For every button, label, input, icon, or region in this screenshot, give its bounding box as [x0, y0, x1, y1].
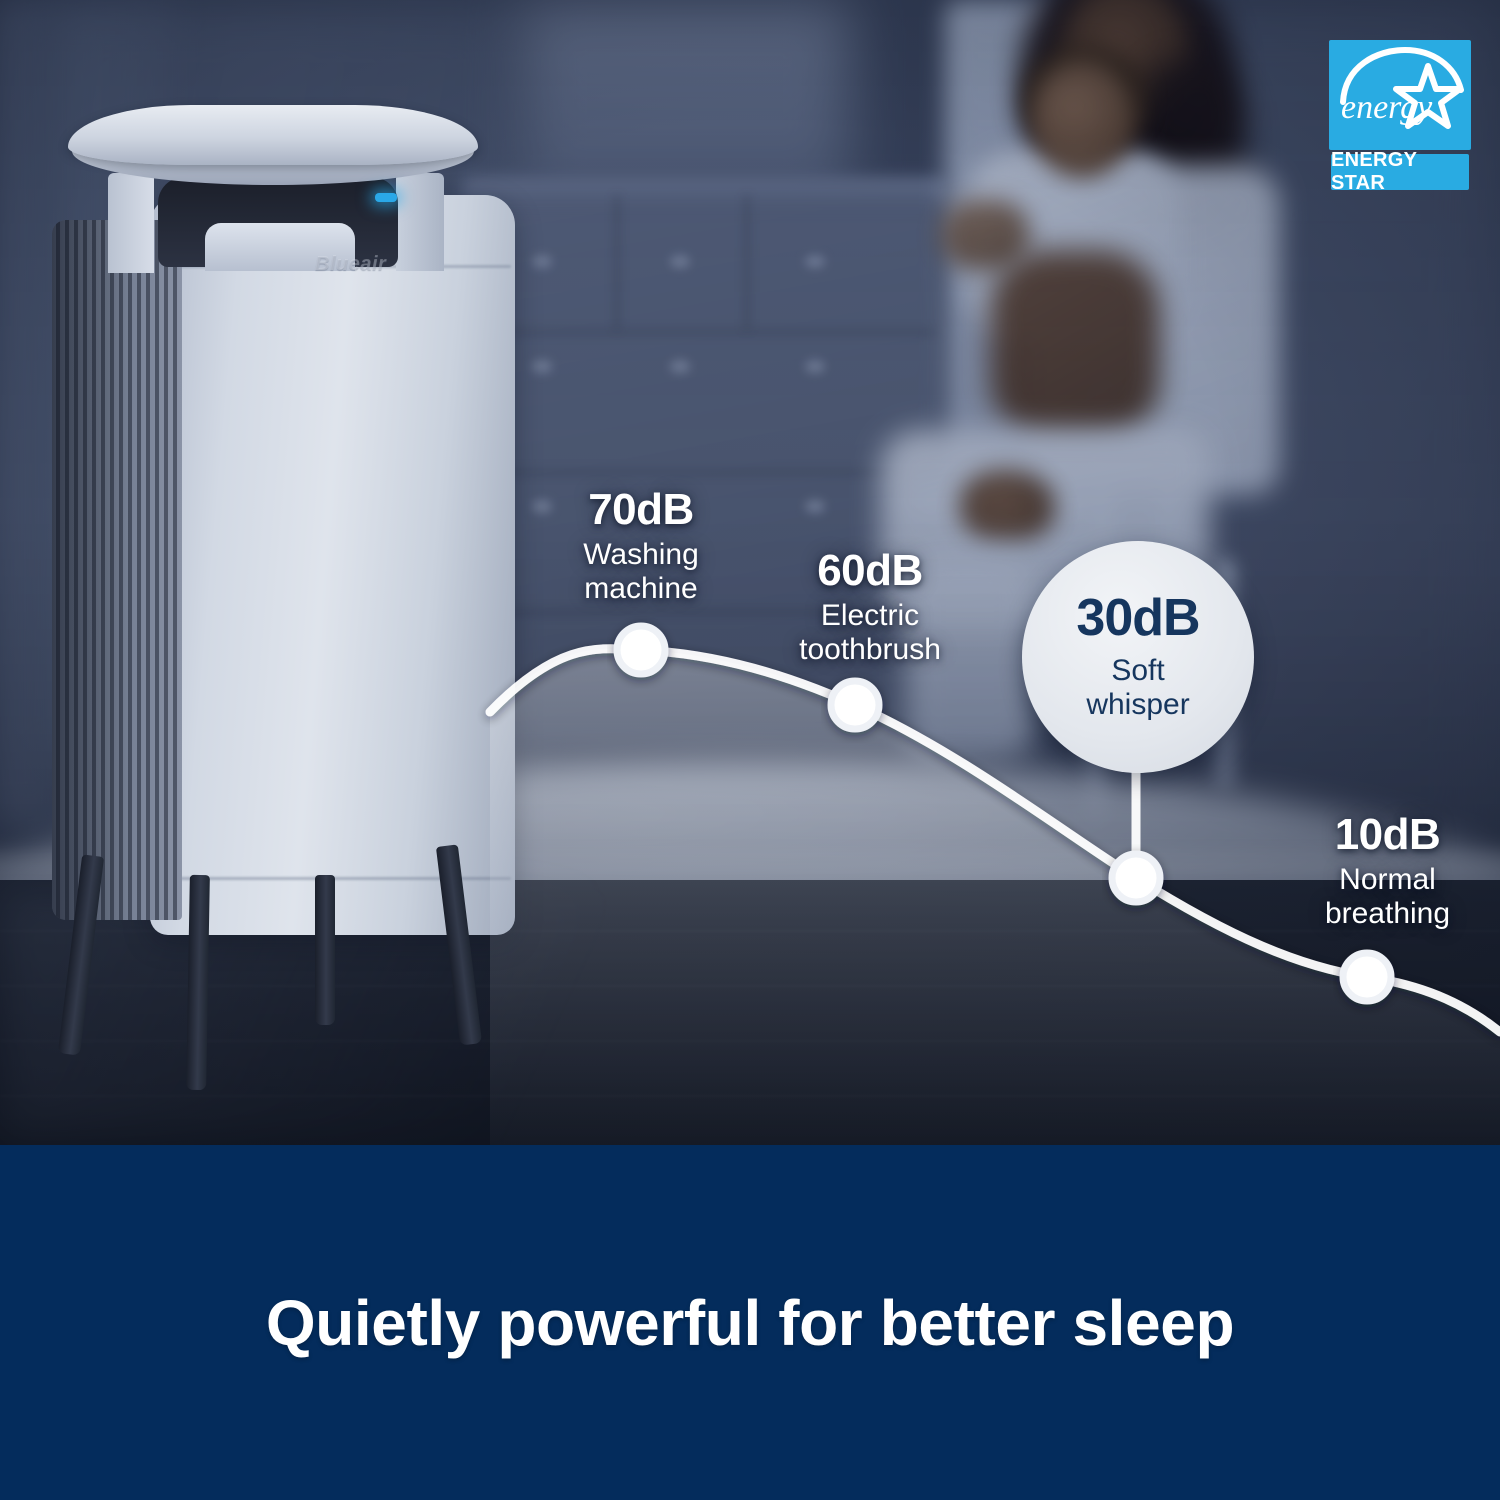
chart-label-60db: 60dB Electric toothbrush [765, 548, 975, 668]
chart-label-70db: 70dB Washing machine [541, 487, 741, 607]
headline-text: Quietly powerful for better sleep [266, 1286, 1234, 1360]
label-name: Electric toothbrush [765, 599, 975, 667]
chart-node-70db[interactable] [617, 626, 665, 674]
chart-node-60db[interactable] [831, 681, 879, 729]
chart-node-30db[interactable] [1112, 854, 1160, 902]
energy-star-label: ENERGY STAR [1331, 149, 1469, 195]
label-name: Normal breathing [1280, 863, 1495, 931]
product-infographic: Blueair [0, 0, 1500, 1500]
label-name: Washing machine [541, 538, 741, 606]
energy-wordmark: energy [1341, 89, 1433, 126]
label-value: 30dB [1076, 592, 1199, 644]
sound-level-chart [0, 0, 1500, 1145]
chart-label-10db: 10dB Normal breathing [1280, 812, 1495, 932]
energy-star-icon: energy [1329, 40, 1471, 150]
energy-star-label-bar: ENERGY STAR [1331, 154, 1469, 190]
chart-node-10db[interactable] [1343, 953, 1391, 1001]
headline-banner: Quietly powerful for better sleep [0, 1145, 1500, 1500]
chart-callout-30db: 30dB Soft whisper [1022, 541, 1254, 773]
energy-star-badge: energy ENERGY STAR [1329, 40, 1471, 190]
label-value: 70dB [541, 487, 741, 533]
label-name: Soft whisper [1086, 654, 1189, 721]
label-value: 60dB [765, 548, 975, 594]
label-value: 10dB [1280, 812, 1495, 858]
